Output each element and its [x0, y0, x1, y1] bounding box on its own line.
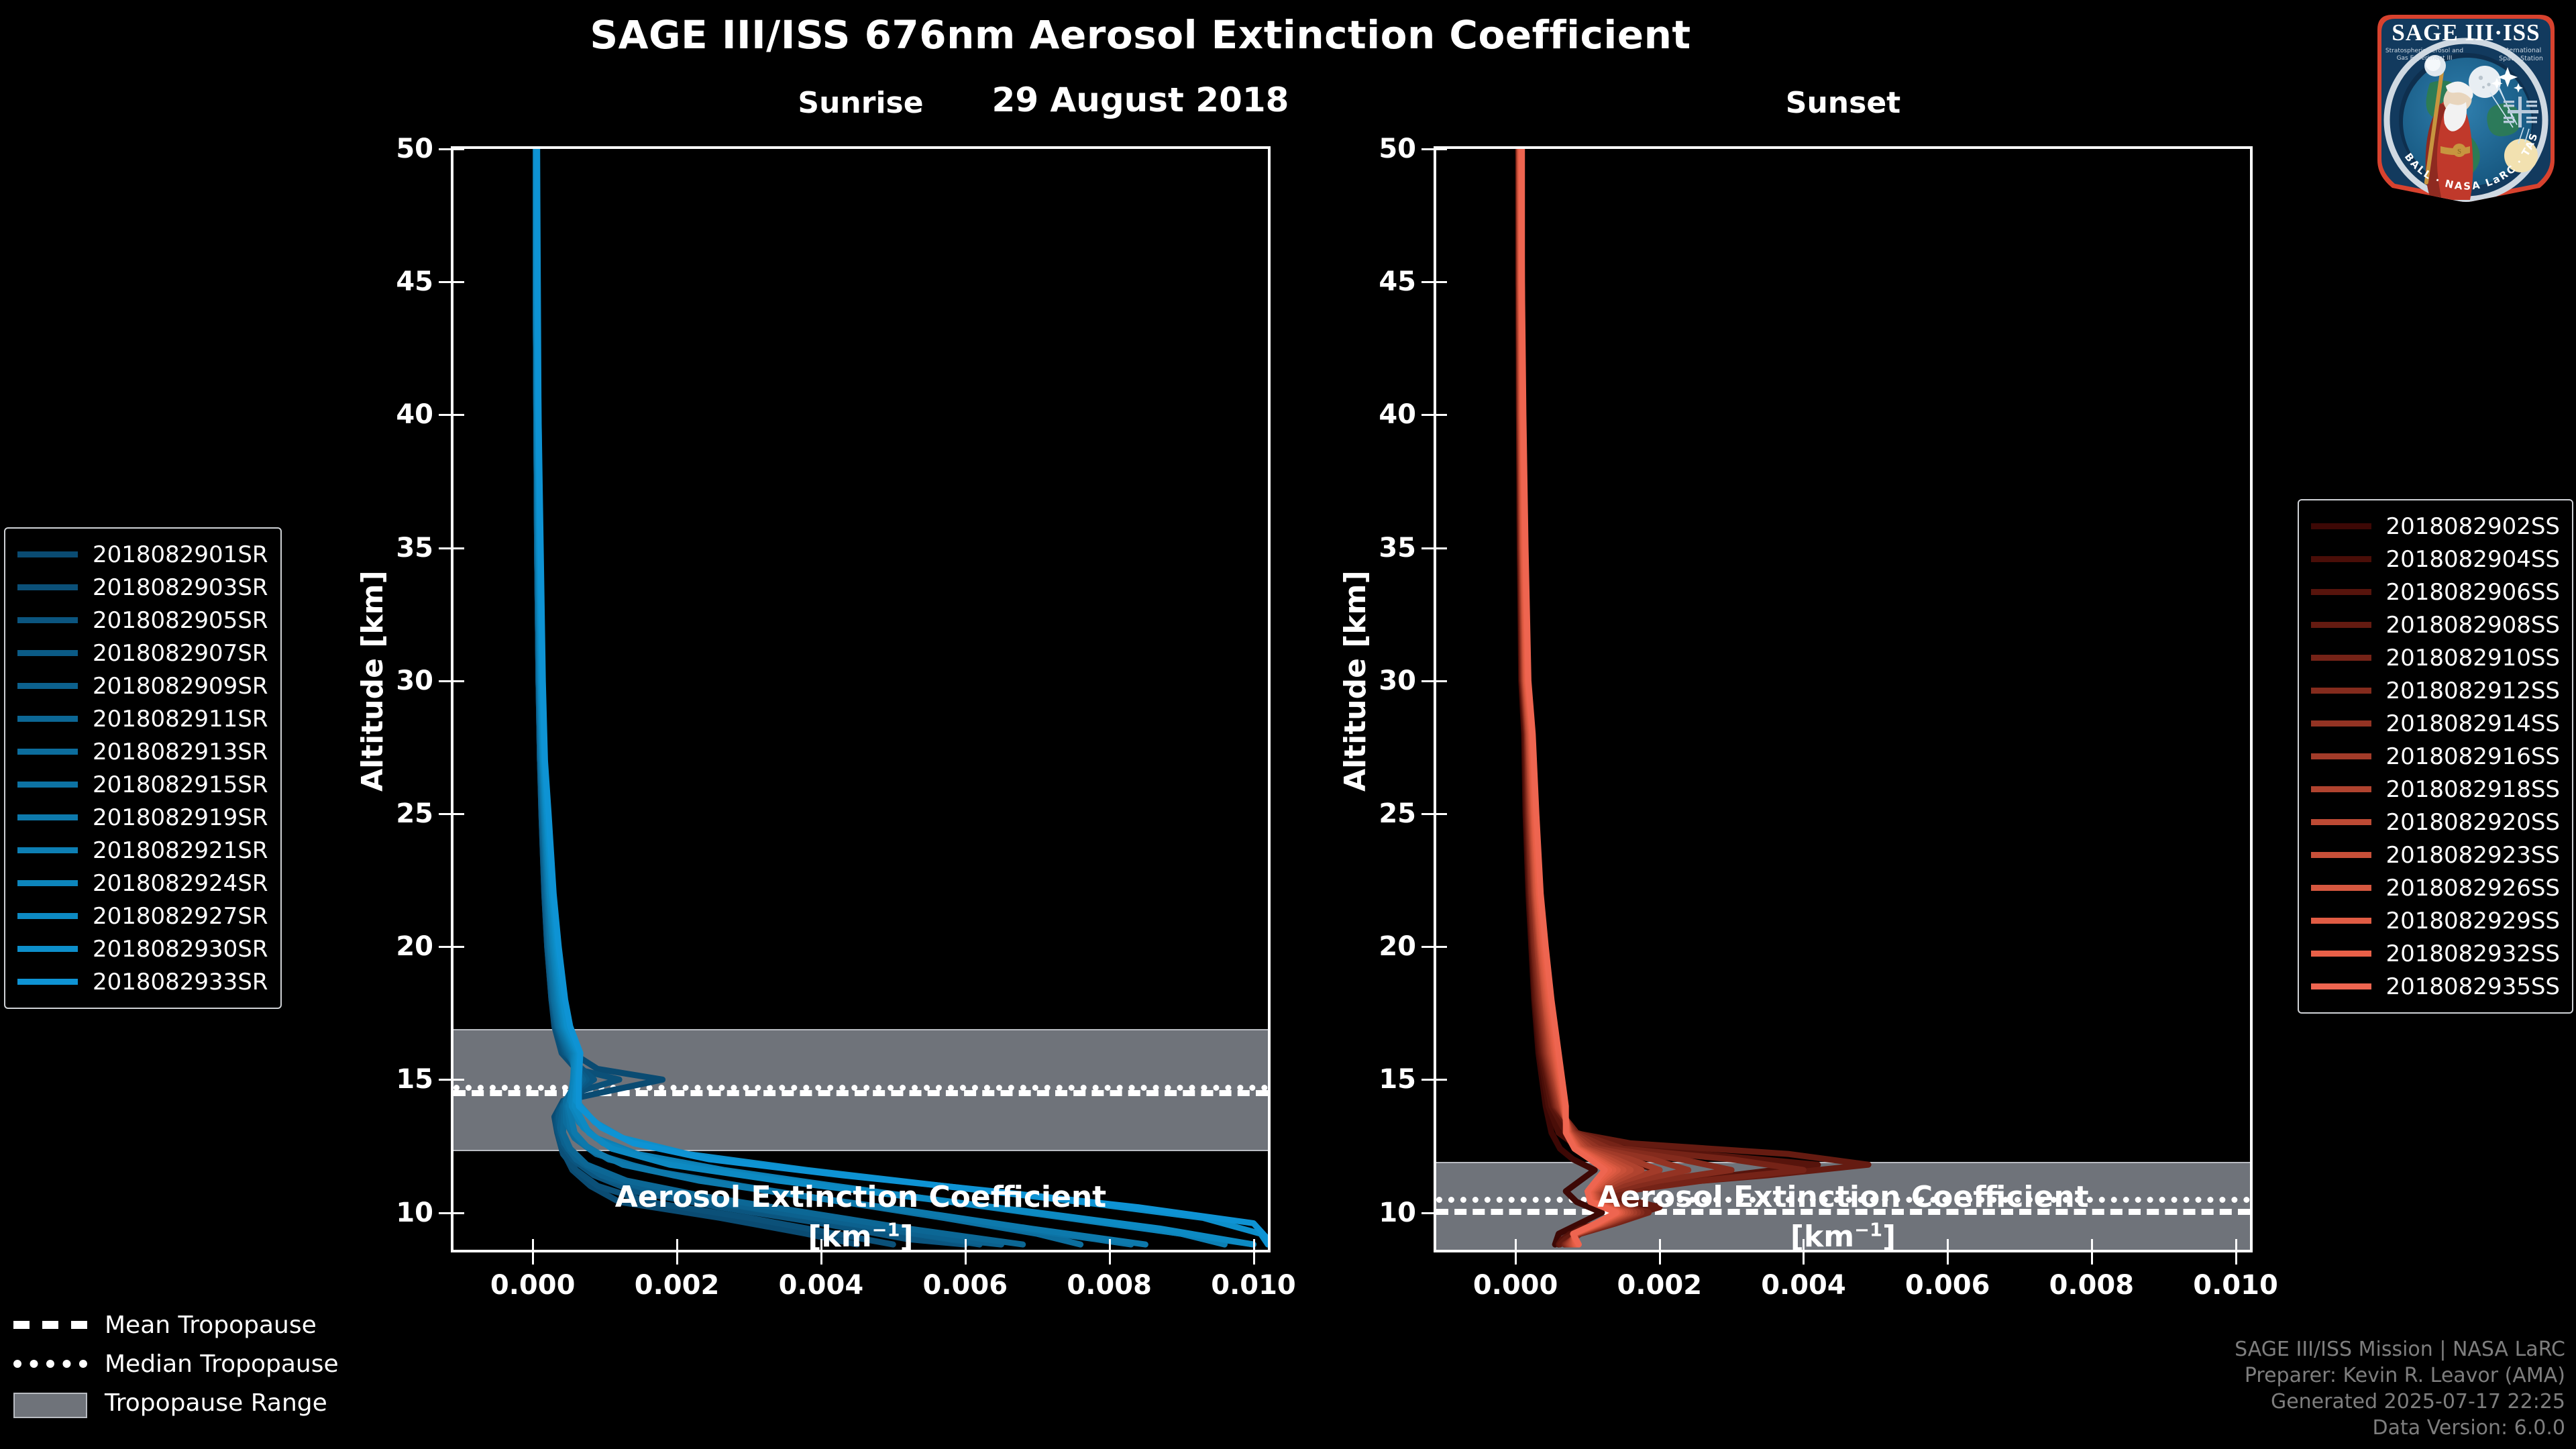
sunrise-legend-item[interactable]: 2018082905SR — [17, 604, 268, 637]
y-tick-inner — [1436, 148, 1447, 150]
sunrise-legend-item[interactable]: 2018082933SR — [17, 965, 268, 998]
legend-item-label: 2018082933SR — [93, 969, 268, 996]
y-tick-label: 20 — [396, 931, 433, 962]
tropopause-legend-label: Median Tropopause — [105, 1350, 339, 1378]
legend-color-swatch — [2311, 589, 2371, 595]
y-tick — [439, 813, 453, 815]
mean-tropopause-dash-icon — [13, 1319, 87, 1331]
median-tropopause-dot-icon — [13, 1358, 87, 1370]
legend-color-swatch — [17, 617, 78, 623]
svg-text:Stratospheric Aerosol and: Stratospheric Aerosol and — [2385, 48, 2463, 54]
legend-item-label: 2018082916SS — [2386, 743, 2560, 770]
legend-item-label: 2018082909SR — [93, 673, 268, 700]
y-tick-label: 30 — [396, 665, 433, 696]
sunset-y-axis-title: Altitude [km] — [1338, 570, 1373, 792]
x-tick-label: 0.004 — [1761, 1270, 1846, 1301]
legend-color-swatch — [17, 847, 78, 853]
y-tick-inner — [453, 813, 464, 815]
legend-color-swatch — [2311, 556, 2371, 562]
x-tick-label: 0.004 — [779, 1270, 864, 1301]
profile-line — [537, 149, 1146, 1244]
legend-color-swatch — [2311, 918, 2371, 924]
y-tick-inner — [453, 680, 464, 682]
profile-line — [1521, 149, 1620, 1244]
y-tick — [1421, 547, 1436, 549]
profile-line — [536, 149, 980, 1244]
legend-item-label: 2018082901SR — [93, 541, 268, 568]
legend-color-swatch — [2311, 688, 2371, 694]
y-tick-inner — [453, 946, 464, 948]
legend-color-swatch — [17, 584, 78, 590]
legend-color-swatch — [17, 814, 78, 820]
sunrise-legend-item[interactable]: 2018082927SR — [17, 900, 268, 932]
tropopause-legend-label: Mean Tropopause — [105, 1311, 317, 1339]
y-tick-label: 20 — [1379, 931, 1416, 962]
legend-color-swatch — [17, 946, 78, 952]
y-tick — [1421, 281, 1436, 283]
legend-color-swatch — [17, 749, 78, 755]
legend-color-swatch — [17, 551, 78, 557]
legend-color-swatch — [2311, 951, 2371, 957]
credit-line: Data Version: 6.0.0 — [2235, 1415, 2565, 1441]
svg-text:S: S — [2457, 148, 2461, 156]
x-tick-label: 0.008 — [1067, 1270, 1152, 1301]
legend-color-swatch — [2311, 753, 2371, 759]
sunset-legend-item[interactable]: 2018082910SS — [2311, 641, 2560, 674]
y-tick — [439, 547, 453, 549]
y-tick-inner — [1436, 414, 1447, 416]
legend-color-swatch — [2311, 655, 2371, 661]
y-tick-label: 35 — [396, 533, 433, 563]
legend-color-swatch — [17, 683, 78, 689]
sunset-legend-item[interactable]: 2018082918SS — [2311, 773, 2560, 806]
sunrise-legend-item[interactable]: 2018082901SR — [17, 538, 268, 571]
profile-line — [1520, 149, 1631, 1244]
legend-color-swatch — [2311, 523, 2371, 529]
y-tick-label: 25 — [1379, 798, 1416, 829]
x-tick-label: 0.010 — [2193, 1270, 2278, 1301]
sunrise-plot-inner — [453, 149, 1268, 1250]
legend-item-label: 2018082914SS — [2386, 710, 2560, 737]
profile-line — [1518, 149, 1868, 1244]
page-title: SAGE III/ISS 676nm Aerosol Extinction Co… — [0, 12, 2281, 58]
legend-item-label: 2018082907SR — [93, 640, 268, 667]
sunset-legend-item[interactable]: 2018082914SS — [2311, 707, 2560, 740]
legend-item-label: 2018082911SR — [93, 706, 268, 733]
legend-color-swatch — [2311, 622, 2371, 628]
profile-line — [537, 149, 1254, 1244]
legend-item-label: 2018082912SS — [2386, 678, 2560, 704]
legend-item-label: 2018082935SS — [2386, 973, 2560, 1000]
y-tick — [1421, 813, 1436, 815]
y-tick-label: 40 — [396, 399, 433, 430]
sunset-x-axis-title: Aerosol Extinction Coefficient [km−1] — [1434, 1177, 2253, 1257]
sunset-legend-item[interactable]: 2018082912SS — [2311, 674, 2560, 707]
credit-line: SAGE III/ISS Mission | NASA LaRC — [2235, 1336, 2565, 1362]
tropopause-range-box-icon — [13, 1397, 87, 1409]
legend-item-label: 2018082913SR — [93, 739, 268, 765]
y-tick — [1421, 1079, 1436, 1081]
legend-color-swatch — [17, 979, 78, 985]
legend-item-label: 2018082919SR — [93, 804, 268, 831]
y-tick-inner — [1436, 946, 1447, 948]
profile-line — [537, 149, 1254, 1244]
profile-line — [537, 149, 1225, 1244]
y-tick-inner — [453, 148, 464, 150]
sunrise-legend-item[interactable]: 2018082915SR — [17, 768, 268, 801]
legend-color-swatch — [2311, 786, 2371, 792]
sunset-x-axis-title-units: [km−1] — [1434, 1217, 2253, 1256]
legend-color-swatch — [2311, 983, 2371, 989]
legend-color-swatch — [2311, 852, 2371, 858]
sunset-legend-item[interactable]: 2018082916SS — [2311, 740, 2560, 773]
sunset-legend-item[interactable]: 2018082902SS — [2311, 510, 2560, 543]
y-tick-inner — [1436, 547, 1447, 549]
profile-line — [1522, 149, 1617, 1244]
legend-color-swatch — [17, 782, 78, 788]
sunrise-legend-item[interactable]: 2018082907SR — [17, 637, 268, 669]
sunset-curves — [1436, 149, 2250, 1250]
legend-item-label: 2018082929SS — [2386, 908, 2560, 934]
credit-line: Generated 2025-07-17 22:25 — [2235, 1389, 2565, 1415]
sunrise-legend-item[interactable]: 2018082903SR — [17, 571, 268, 604]
y-tick — [1421, 946, 1436, 948]
legend-color-swatch — [17, 913, 78, 919]
legend-item-label: 2018082930SR — [93, 936, 268, 963]
legend-item-label: 2018082905SR — [93, 607, 268, 634]
legend-item-label: 2018082906SS — [2386, 579, 2560, 606]
legend-item-label: 2018082903SR — [93, 574, 268, 601]
legend-item-label: 2018082926SS — [2386, 875, 2560, 902]
sunrise-legend-item[interactable]: 2018082921SR — [17, 834, 268, 867]
tropopause-legend-item[interactable]: Tropopause Range — [13, 1383, 339, 1422]
sunset-legend[interactable]: 2018082902SS2018082904SS2018082906SS2018… — [2298, 499, 2573, 1014]
y-tick-inner — [453, 414, 464, 416]
sunset-legend-item[interactable]: 2018082935SS — [2311, 970, 2560, 1003]
legend-color-swatch — [2311, 885, 2371, 891]
legend-item-label: 2018082918SS — [2386, 776, 2560, 803]
sunset-legend-item[interactable]: 2018082906SS — [2311, 576, 2560, 608]
sunrise-curves — [453, 149, 1268, 1250]
legend-item-label: 2018082908SS — [2386, 612, 2560, 639]
svg-text:Space Station: Space Station — [2499, 55, 2543, 62]
y-tick-label: 50 — [396, 133, 433, 164]
legend-item-label: 2018082902SS — [2386, 513, 2560, 540]
sunrise-panel-label: Sunrise — [451, 86, 1271, 120]
sunset-legend-item[interactable]: 2018082929SS — [2311, 904, 2560, 937]
legend-color-swatch — [2311, 720, 2371, 727]
sunrise-legend-item[interactable]: 2018082909SR — [17, 669, 268, 702]
sunrise-legend-item[interactable]: 2018082913SR — [17, 735, 268, 768]
y-tick — [1421, 148, 1436, 150]
y-tick-inner — [453, 281, 464, 283]
y-tick-inner — [1436, 281, 1447, 283]
y-tick-inner — [1436, 813, 1447, 815]
sunset-legend-item[interactable]: 2018082920SS — [2311, 806, 2560, 839]
sunset-panel-label: Sunset — [1434, 86, 2253, 120]
sunset-x-axis-title-line1: Aerosol Extinction Coefficient — [1434, 1177, 2253, 1217]
legend-item-label: 2018082932SS — [2386, 941, 2560, 967]
y-tick-inner — [453, 547, 464, 549]
y-tick-label: 15 — [396, 1064, 433, 1095]
svg-text:International: International — [2501, 47, 2542, 54]
y-tick — [1421, 414, 1436, 416]
y-tick-inner — [1436, 1079, 1447, 1081]
legend-item-label: 2018082923SS — [2386, 842, 2560, 869]
sunrise-x-axis-title-units: [km−1] — [451, 1217, 1271, 1256]
legend-item-label: 2018082927SR — [93, 903, 268, 930]
credits-block: SAGE III/ISS Mission | NASA LaRCPreparer… — [2235, 1336, 2565, 1441]
sunrise-legend-item[interactable]: 2018082930SR — [17, 932, 268, 965]
y-tick-label: 45 — [1379, 266, 1416, 297]
sunrise-plot[interactable]: 101520253035404550 0.0000.0020.0040.0060… — [451, 146, 1271, 1252]
legend-item-label: 2018082920SS — [2386, 809, 2560, 836]
sunrise-legend-item[interactable]: 2018082911SR — [17, 702, 268, 735]
y-tick-label: 15 — [1379, 1064, 1416, 1095]
y-tick — [439, 1079, 453, 1081]
profile-line — [1521, 149, 1622, 1244]
tropopause-legend-label: Tropopause Range — [105, 1389, 327, 1417]
y-tick-label: 30 — [1379, 665, 1416, 696]
legend-item-label: 2018082924SR — [93, 870, 268, 897]
x-tick-label: 0.008 — [2049, 1270, 2135, 1301]
profile-line — [536, 149, 1131, 1244]
y-tick-label: 10 — [1379, 1197, 1416, 1228]
tropopause-legend-item[interactable]: Mean Tropopause — [13, 1305, 339, 1344]
legend-color-swatch — [17, 716, 78, 722]
y-tick — [1421, 680, 1436, 682]
sunset-plot[interactable]: 101520253035404550 0.0000.0020.0040.0060… — [1434, 146, 2253, 1252]
svg-text:SAGE III·ISS: SAGE III·ISS — [2392, 19, 2540, 46]
sunrise-legend-item[interactable]: 2018082919SR — [17, 801, 268, 834]
y-tick-label: 35 — [1379, 533, 1416, 563]
profile-line — [1521, 149, 1618, 1244]
x-tick-label: 0.002 — [1617, 1270, 1703, 1301]
y-tick-label: 45 — [396, 266, 433, 297]
y-tick — [439, 148, 453, 150]
sunset-legend-item[interactable]: 2018082904SS — [2311, 543, 2560, 576]
y-tick-label: 25 — [396, 798, 433, 829]
legend-color-swatch — [17, 650, 78, 656]
y-tick-inner — [453, 1079, 464, 1081]
sunrise-legend[interactable]: 2018082901SR2018082903SR2018082905SR2018… — [4, 527, 282, 1009]
x-tick-label: 0.006 — [1905, 1270, 1990, 1301]
tropopause-legend-item[interactable]: Median Tropopause — [13, 1344, 339, 1383]
y-tick — [439, 680, 453, 682]
legend-item-label: 2018082904SS — [2386, 546, 2560, 573]
legend-item-label: 2018082921SR — [93, 837, 268, 864]
y-tick — [439, 946, 453, 948]
sunrise-y-axis-title: Altitude [km] — [356, 570, 390, 792]
sunrise-x-axis-title-line1: Aerosol Extinction Coefficient — [451, 1177, 1271, 1217]
sage-iii-iss-logo: S SAGE III·ISS Stratospheric Aerosol and… — [2365, 3, 2567, 204]
sunrise-legend-item[interactable]: 2018082924SR — [17, 867, 268, 900]
profile-line — [536, 149, 1002, 1244]
profile-line — [536, 149, 965, 1244]
legend-color-swatch — [2311, 819, 2371, 825]
legend-color-swatch — [17, 880, 78, 886]
sunset-legend-item[interactable]: 2018082926SS — [2311, 871, 2560, 904]
sunset-legend-item[interactable]: 2018082908SS — [2311, 608, 2560, 641]
sunset-plot-inner — [1436, 149, 2250, 1250]
x-tick-label: 0.006 — [923, 1270, 1008, 1301]
credit-line: Preparer: Kevin R. Leavor (AMA) — [2235, 1362, 2565, 1389]
sunset-legend-item[interactable]: 2018082932SS — [2311, 937, 2560, 970]
x-tick-label: 0.000 — [490, 1270, 576, 1301]
y-tick-label: 50 — [1379, 133, 1416, 164]
legend-item-label: 2018082915SR — [93, 771, 268, 798]
x-tick-label: 0.010 — [1211, 1270, 1296, 1301]
x-tick-label: 0.002 — [635, 1270, 720, 1301]
legend-item-label: 2018082910SS — [2386, 645, 2560, 672]
y-tick — [439, 414, 453, 416]
sunset-legend-item[interactable]: 2018082923SS — [2311, 839, 2560, 871]
profile-line — [1520, 149, 1642, 1244]
svg-text:Gas Experiment III: Gas Experiment III — [2397, 55, 2453, 62]
x-tick-label: 0.000 — [1473, 1270, 1558, 1301]
tropopause-legend: Mean TropopauseMedian TropopauseTropopau… — [13, 1305, 339, 1422]
y-tick — [439, 281, 453, 283]
profile-line — [1521, 149, 1625, 1244]
y-tick-label: 10 — [396, 1197, 433, 1228]
y-tick-label: 40 — [1379, 399, 1416, 430]
y-tick-inner — [1436, 680, 1447, 682]
sunrise-x-axis-title: Aerosol Extinction Coefficient [km−1] — [451, 1177, 1271, 1257]
